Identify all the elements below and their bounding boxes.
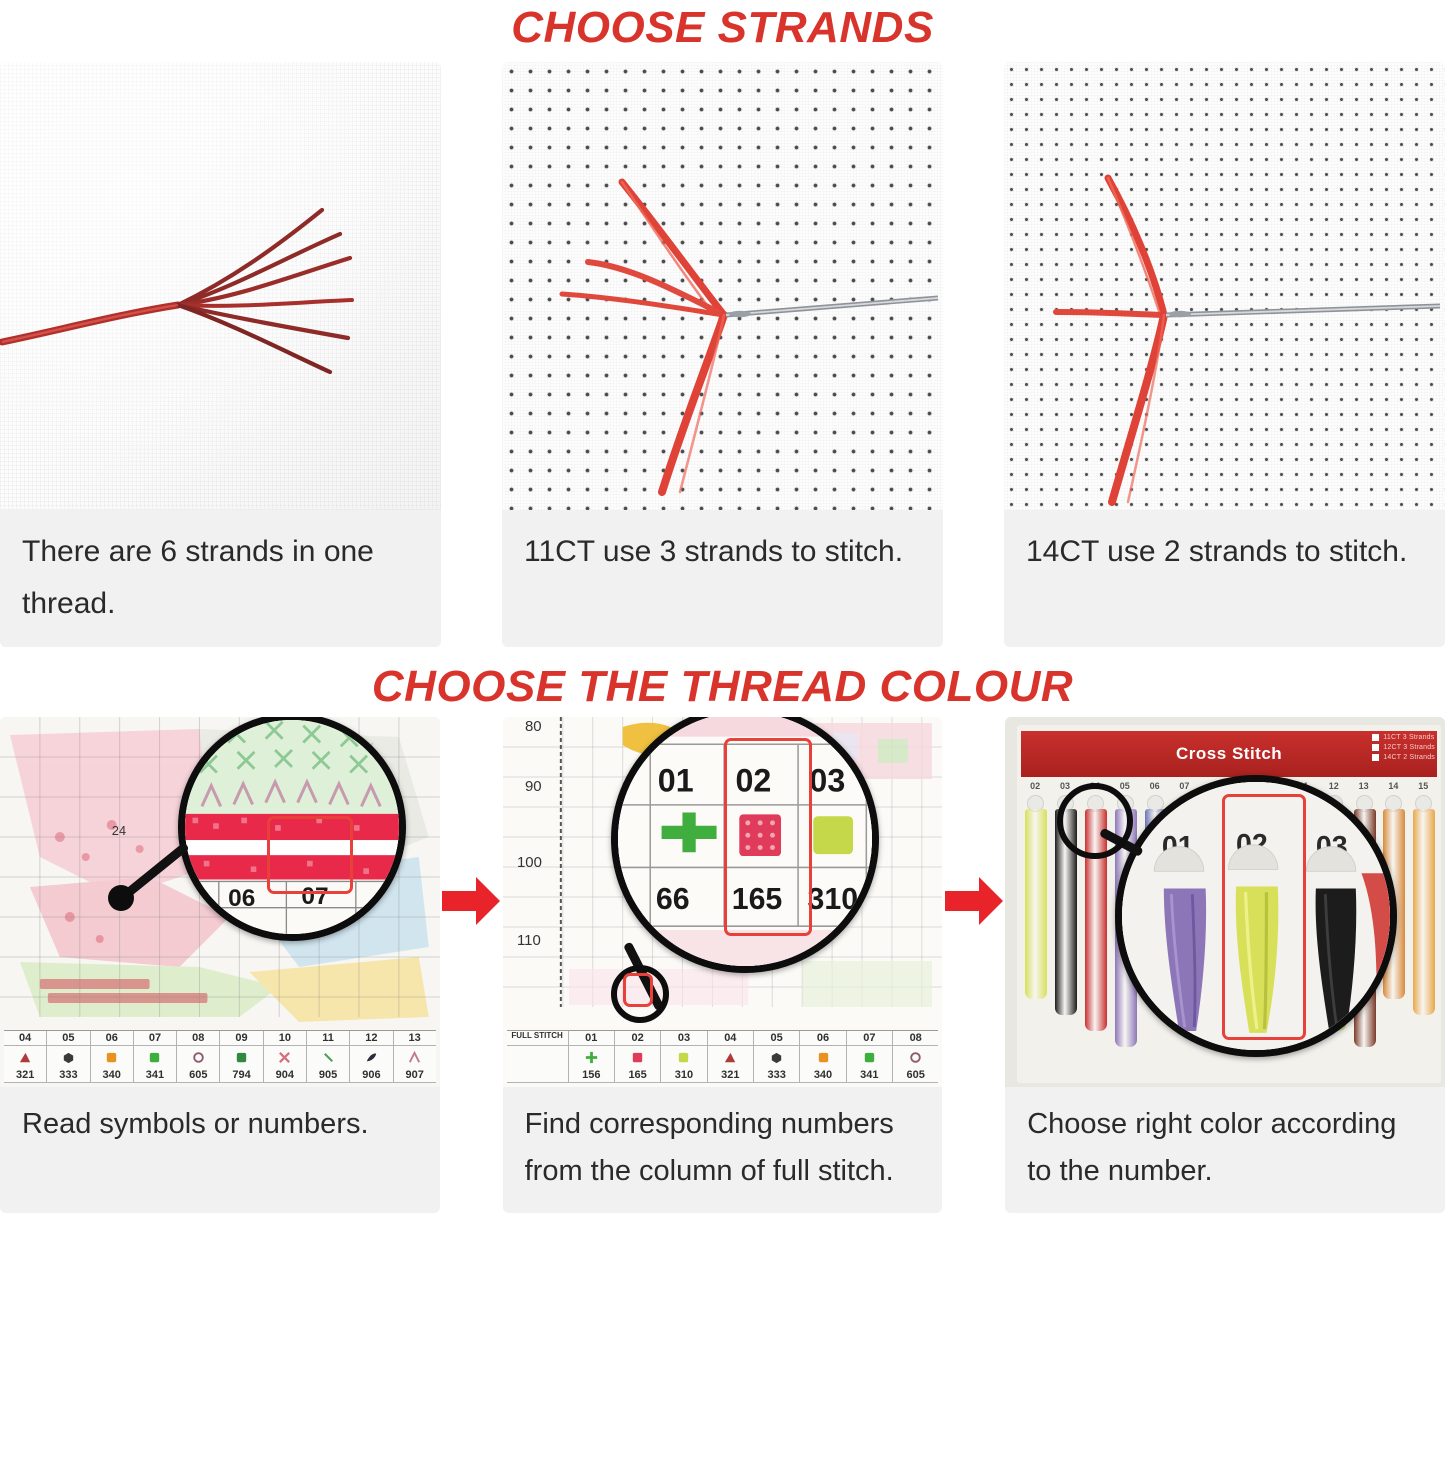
pack-check-item: 14CT 2 Strands (1372, 754, 1435, 761)
lens-col-01: 01 (657, 763, 693, 799)
leaf-dark-icon (364, 1050, 379, 1065)
highlight-box-slot-02 (1222, 794, 1306, 1040)
thread-slot-number: 03 (1060, 781, 1070, 791)
legend-number-cell: 794 (220, 1068, 263, 1083)
legend-number-cell: 341 (134, 1068, 177, 1083)
magnifier-lens-symbols: 06 07 (178, 717, 406, 941)
square-yellowgreen-icon (676, 1050, 691, 1065)
caption-11ct: 11CT use 3 strands to stitch. (502, 510, 943, 647)
thread-slot-number: 15 (1418, 781, 1428, 791)
legend-number-cell: 165 (615, 1068, 661, 1083)
legend-header-cell: 03 (661, 1031, 707, 1046)
next-step-arrow-icon (945, 877, 1003, 925)
legend-number-cell: 605 (893, 1068, 938, 1083)
legend-symbol-cell (264, 1046, 307, 1068)
small-highlight-box-165 (623, 973, 653, 1007)
highlight-box-column-02 (724, 738, 812, 936)
legend-symbol-cell (661, 1046, 707, 1068)
legend-header-row: FULL STITCH 01 02 03 04 05 06 07 08 (507, 1031, 939, 1046)
legend-symbol-cell (350, 1046, 393, 1068)
legend-row-spacer (507, 1046, 569, 1068)
legend-number-row: 156 165 310 321 333 340 341 605 (507, 1068, 939, 1083)
legend-number-cell: 321 (4, 1068, 47, 1083)
row-label-80: 80 (525, 718, 542, 735)
card-find-numbers: 80 90 100 110 (503, 717, 943, 1213)
thread-needle-illustration-11ct (502, 62, 943, 510)
pack-check-item: 12CT 3 Strands (1372, 744, 1435, 751)
pack-check-label: 14CT 2 Strands (1383, 754, 1435, 761)
section-title-choose-thread-colour: CHOOSE THE THREAD COLOUR (0, 647, 1445, 717)
cross-green-icon (584, 1050, 599, 1065)
magnifier-pointer-threads (1057, 783, 1133, 859)
legend-table-numbers: FULL STITCH 01 02 03 04 05 06 07 08 (507, 1030, 939, 1083)
legend-number-cell: 605 (177, 1068, 220, 1083)
square-orange-icon (816, 1050, 831, 1065)
checkbox-icon (1372, 754, 1379, 761)
pack-check-item: 11CT 3 Strands (1372, 734, 1435, 741)
legend-number-cell: 904 (264, 1068, 307, 1083)
legend-header-cell: 11 (307, 1031, 350, 1046)
legend-symbol-cell (893, 1046, 938, 1068)
legend-header-cell: 04 (4, 1031, 47, 1046)
legend-header-cell: 07 (847, 1031, 893, 1046)
photo-11ct-needle (502, 62, 943, 510)
legend-header-cell: 01 (569, 1031, 615, 1046)
row-label-110: 110 (517, 932, 541, 949)
strands-card-row: There are 6 strands in one thread. (0, 62, 1445, 647)
square-orange-icon (104, 1050, 119, 1065)
next-step-arrow-icon (442, 877, 500, 925)
legend-symbol-cell (847, 1046, 893, 1068)
legend-symbol-cell (91, 1046, 134, 1068)
legend-header-cell: 05 (754, 1031, 800, 1046)
thread-skein (1413, 809, 1435, 1015)
legend-symbol-cell (177, 1046, 220, 1068)
legend-number-cell: 340 (800, 1068, 846, 1083)
checkbox-icon (1372, 734, 1379, 741)
legend-header-cell: 06 (800, 1031, 846, 1046)
legend-symbol-cell (800, 1046, 846, 1068)
legend-number-cell: 310 (661, 1068, 707, 1083)
cross-pink-icon (277, 1050, 292, 1065)
magnifier-lens-numbers: 01 02 03 66 165 310 (611, 717, 879, 973)
card-choose-color: Cross Stitch 11CT 3 Strands 12CT 3 Stran… (1005, 717, 1445, 1213)
legend-header-cell: 08 (177, 1031, 220, 1046)
photo-14ct-needle (1004, 62, 1445, 510)
slash-green-icon (321, 1050, 336, 1065)
row-label-100: 100 (517, 854, 542, 871)
legend-header-cell: 10 (264, 1031, 307, 1046)
circle-open-icon (908, 1050, 923, 1065)
legend-header-cell: 09 (220, 1031, 263, 1046)
legend-table-symbols: 04 05 06 07 08 09 10 11 12 13 (4, 1030, 436, 1083)
lens-symbol-square-yellowgreen (813, 816, 853, 854)
magnifier-lens-threads: 01 02 03 (1115, 775, 1397, 1057)
legend-number-cell: 333 (754, 1068, 800, 1083)
thread-needle-illustration-14ct (1004, 62, 1445, 510)
legend-number-cell: 340 (91, 1068, 134, 1083)
card-six-strands: There are 6 strands in one thread. (0, 62, 441, 647)
caption-find-numbers: Find corresponding numbers from the colu… (503, 1087, 943, 1213)
legend-header-cell: 07 (134, 1031, 177, 1046)
triangle-red-icon (18, 1050, 33, 1065)
legend-symbol-cell (4, 1046, 47, 1068)
lens-value-66: 66 (656, 883, 690, 916)
checkbox-icon (1372, 744, 1379, 751)
legend-symbol-cell (47, 1046, 90, 1068)
legend-symbol-cell (754, 1046, 800, 1068)
legend-header-cell: 02 (615, 1031, 661, 1046)
hexagon-dark-icon (61, 1050, 76, 1065)
section-title-choose-strands: CHOOSE STRANDS (0, 0, 1445, 62)
card-11ct: 11CT use 3 strands to stitch. (502, 62, 943, 647)
legend-header-cell: 13 (394, 1031, 436, 1046)
legend-header-cell: 08 (893, 1031, 938, 1046)
needle-shape (726, 298, 938, 317)
legend-number-cell: 333 (47, 1068, 90, 1083)
legend-header-cell: 05 (47, 1031, 90, 1046)
legend-symbol-cell (394, 1046, 436, 1068)
caret-pink-icon (407, 1050, 422, 1065)
arrow-gap-1 (440, 717, 503, 1213)
legend-symbol-row (4, 1046, 436, 1068)
legend-symbol-cell (569, 1046, 615, 1068)
card-14ct: 14CT use 2 strands to stitch. (1004, 62, 1445, 647)
chart-row-number: 24 (112, 823, 126, 838)
triangle-red-icon (723, 1050, 738, 1065)
magnifier-pointer-symbols (108, 885, 134, 911)
lens-value-310: 310 (807, 883, 858, 916)
legend-symbol-cell (307, 1046, 350, 1068)
caption-14ct: 14CT use 2 strands to stitch. (1004, 510, 1445, 647)
caption-choose-color: Choose right color according to the numb… (1005, 1087, 1445, 1213)
photo-pattern-chart: 24 (0, 717, 440, 1087)
square-green-icon (862, 1050, 877, 1065)
legend-row-spacer (507, 1068, 569, 1083)
pack-check-label: 11CT 3 Strands (1383, 734, 1434, 741)
pack-check-label: 12CT 3 Strands (1383, 744, 1435, 751)
legend-symbol-row (507, 1046, 939, 1068)
legend-number-cell: 341 (847, 1068, 893, 1083)
lens-col-03: 03 (809, 763, 845, 799)
legend-header-cell: 12 (350, 1031, 393, 1046)
legend-number-cell: 907 (394, 1068, 436, 1083)
legend-header-cell: 06 (91, 1031, 134, 1046)
arrow-gap-2 (942, 717, 1005, 1213)
thread-slot-number: 02 (1030, 781, 1040, 791)
photo-thread-pack: Cross Stitch 11CT 3 Strands 12CT 3 Stran… (1005, 717, 1445, 1087)
thread-skein (1025, 809, 1047, 999)
lens-number-06: 06 (228, 885, 255, 912)
legend-header-row: 04 05 06 07 08 09 10 11 12 13 (4, 1031, 436, 1046)
circle-open-icon (191, 1050, 206, 1065)
legend-number-row: 321 333 340 341 605 794 904 905 906 907 (4, 1068, 436, 1083)
square-green-icon (147, 1050, 162, 1065)
photo-full-stitch-chart: 80 90 100 110 (503, 717, 943, 1087)
row-label-90: 90 (525, 778, 542, 795)
card-read-symbols: 24 (0, 717, 440, 1213)
legend-row-title: FULL STITCH (507, 1031, 569, 1046)
caption-six-strands: There are 6 strands in one thread. (0, 510, 441, 647)
legend-number-cell: 906 (350, 1068, 393, 1083)
photo-six-strands (0, 62, 441, 510)
legend-number-cell: 321 (708, 1068, 754, 1083)
needle-shape (1166, 306, 1440, 317)
legend-symbol-cell (708, 1046, 754, 1068)
legend-symbol-cell (615, 1046, 661, 1068)
highlight-box-symbols (267, 816, 353, 894)
square-darkgreen-icon (234, 1050, 249, 1065)
hexagon-dark-icon (769, 1050, 784, 1065)
split-thread-illustration (0, 62, 441, 510)
pack-title: Cross Stitch (1176, 744, 1282, 764)
thread-colour-card-row: 24 (0, 717, 1445, 1213)
legend-number-cell: 905 (307, 1068, 350, 1083)
legend-symbol-cell (134, 1046, 177, 1068)
pack-check-list: 11CT 3 Strands 12CT 3 Strands 14CT 2 Str… (1372, 731, 1435, 764)
square-pink-icon (630, 1050, 645, 1065)
legend-symbol-cell (220, 1046, 263, 1068)
legend-header-cell: 04 (708, 1031, 754, 1046)
caption-read-symbols: Read symbols or numbers. (0, 1087, 440, 1213)
legend-number-cell: 156 (569, 1068, 615, 1083)
